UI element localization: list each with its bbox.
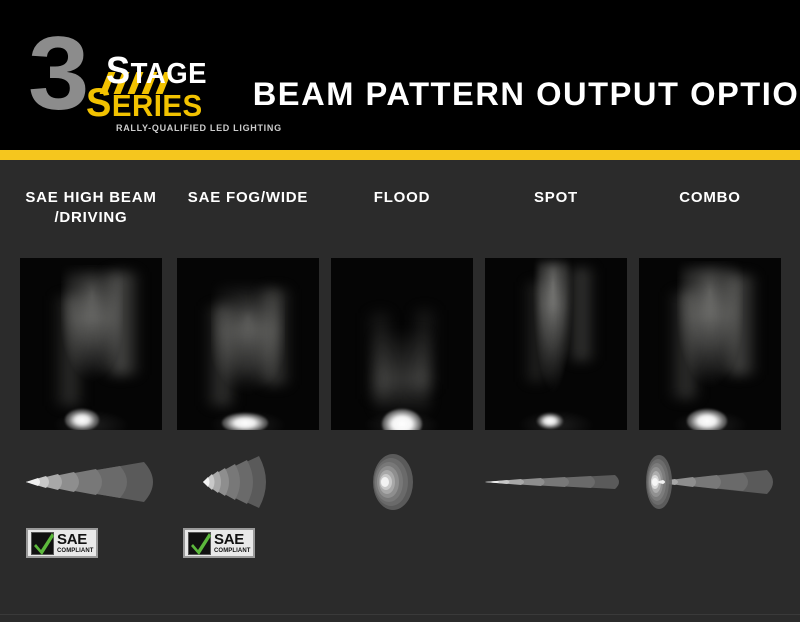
- sae-compliant-badge-sae-fog-wide: SAE COMPLIANT: [183, 528, 255, 558]
- photo-beam-hotspot: [382, 409, 422, 430]
- beam-pattern-diagram-sae-high-beam-driving: [16, 444, 166, 520]
- photo-beam-hotspot: [537, 413, 563, 429]
- badge-text-group: SAE COMPLIANT: [211, 532, 251, 554]
- header-bar: 3 STAGE SERIES RALLY-QUALIFIED LED LIGHT…: [0, 0, 800, 150]
- column-flood: FLOOD: [331, 160, 473, 622]
- badge-sae-label: SAE: [214, 532, 251, 547]
- logo-word-stage: STAGE: [106, 57, 207, 89]
- logo-numeral-3: 3: [28, 26, 85, 122]
- yellow-accent-divider: [0, 150, 800, 160]
- beam-pattern-diagram-combo: [635, 444, 785, 520]
- beam-pattern-diagram-sae-fog-wide: [173, 444, 323, 520]
- sae-compliant-badge-sae-high-beam-driving: SAE COMPLIANT: [26, 528, 98, 558]
- beam-pattern-diagram-flood: [327, 444, 477, 520]
- column-label-flood: FLOOD: [325, 188, 479, 208]
- badge-compliant-label: COMPLIANT: [57, 548, 94, 554]
- column-label-line1: FLOOD: [374, 189, 431, 206]
- photo-beam-throw: [211, 279, 285, 410]
- beam-pattern-infographic: 3 STAGE SERIES RALLY-QUALIFIED LED LIGHT…: [0, 0, 800, 622]
- column-label-line1: SPOT: [534, 189, 578, 206]
- badge-text-group: SAE COMPLIANT: [54, 532, 94, 554]
- column-combo: COMBO: [639, 160, 781, 622]
- photo-beam-throw: [677, 261, 743, 412]
- badge-sae-label: SAE: [57, 532, 94, 547]
- badge-compliant-label: COMPLIANT: [214, 548, 251, 554]
- column-label-line2: /DRIVING: [14, 208, 168, 228]
- column-label-sae-fog-wide: SAE FOG/WIDE: [171, 188, 325, 208]
- column-label-line1: SAE HIGH BEAM: [25, 189, 156, 206]
- photo-beam-hotspot: [65, 409, 99, 430]
- photo-beam-throw: [374, 327, 430, 416]
- logo-stage-rest: TAGE: [131, 58, 207, 90]
- logo-series-rest: ERIES: [112, 88, 203, 123]
- column-label-spot: SPOT: [479, 188, 633, 208]
- column-sae-high-beam-driving: SAE HIGH BEAM /DRIVING: [20, 160, 162, 622]
- beam-photo-sae-fog-wide: [177, 258, 319, 430]
- logo-word-series: SERIES: [86, 88, 203, 121]
- beam-photo-sae-high-beam-driving: [20, 258, 162, 430]
- column-label-combo: COMBO: [633, 188, 787, 208]
- photo-beam-hotspot: [222, 413, 268, 430]
- logo-series-cap: S: [86, 81, 112, 125]
- column-label-sae-high-beam-driving: SAE HIGH BEAM /DRIVING: [14, 188, 168, 228]
- stage-series-logo: 3 STAGE SERIES RALLY-QUALIFIED LED LIGHT…: [28, 26, 243, 126]
- photo-beam-hotspot: [687, 409, 727, 430]
- column-label-line1: SAE FOG/WIDE: [188, 189, 308, 206]
- photo-beam-throw: [61, 265, 123, 409]
- column-label-line1: COMBO: [679, 189, 741, 206]
- beam-photo-flood: [331, 258, 473, 430]
- column-spot: SPOT: [485, 160, 627, 622]
- beam-photo-combo: [639, 258, 781, 430]
- checkmark-icon: [188, 532, 211, 555]
- photo-beam-throw: [533, 258, 573, 416]
- checkmark-icon: [31, 532, 54, 555]
- column-sae-fog-wide: SAE FOG/WIDE: [177, 160, 319, 622]
- logo-tagline: RALLY-QUALIFIED LED LIGHTING: [116, 123, 282, 133]
- footer-divider: [0, 614, 800, 615]
- beam-pattern-grid: SAE HIGH BEAM /DRIVING: [0, 160, 800, 622]
- beam-photo-spot: [485, 258, 627, 430]
- beam-pattern-diagram-spot: [481, 444, 631, 520]
- page-title: BEAM PATTERN OUTPUT OPTIONS: [253, 77, 794, 111]
